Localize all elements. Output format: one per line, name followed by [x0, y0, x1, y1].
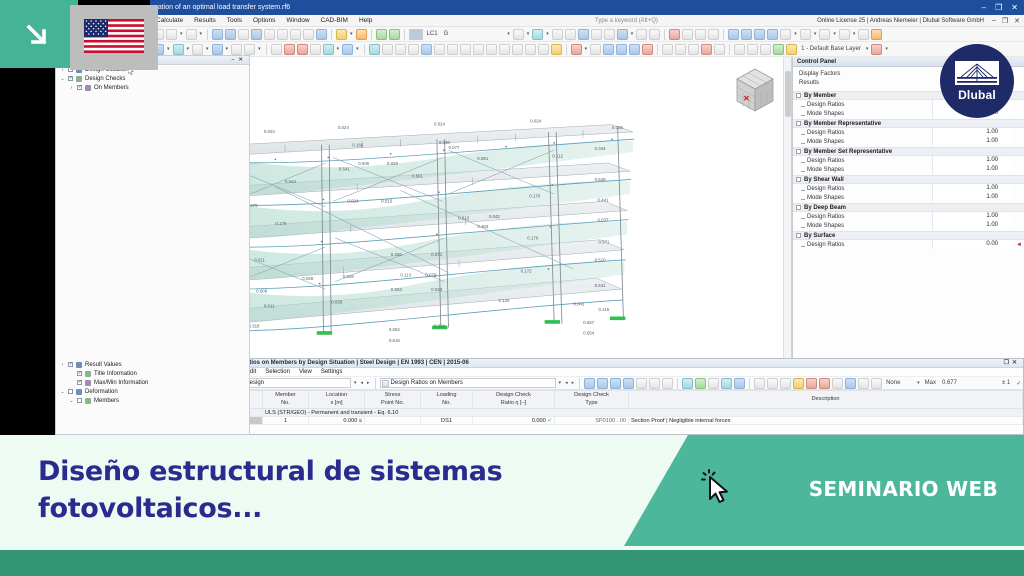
animation-icon[interactable] [800, 29, 811, 40]
tree-twisty-icon[interactable]: ⌄ [69, 398, 74, 404]
maxmin-info-icon [85, 380, 91, 386]
tree-node-label: Title Information [94, 371, 137, 377]
new-solid-icon[interactable] [212, 44, 223, 55]
layer-settings-icon[interactable] [871, 44, 882, 55]
deformation-icon[interactable] [819, 29, 830, 40]
svg-text:0.024: 0.024 [338, 125, 350, 130]
doc-minimize-icon[interactable]: – [992, 17, 996, 25]
loads-icon[interactable] [336, 29, 347, 40]
layer-edit-icon[interactable] [747, 44, 758, 55]
node-icon[interactable] [682, 29, 693, 40]
line-icon[interactable] [695, 29, 706, 40]
svg-text:0.541: 0.541 [595, 283, 607, 288]
pan-view-icon[interactable] [565, 29, 576, 40]
close-icon[interactable]: ✕ [1011, 0, 1018, 15]
cp-group-label: By Shear Wall [804, 177, 844, 183]
cp-factor-label: Mode Shapes [793, 111, 932, 117]
results-grid[interactable]: Design Situation Member No. Location x [… [216, 390, 1023, 425]
cp-group-checkbox[interactable] [796, 205, 801, 210]
screenshot-root: nation of an optimal load transfer syste… [0, 0, 1024, 576]
toolbar-separator [371, 29, 372, 40]
base-layer-dropdown-icon[interactable]: ▾ [865, 46, 870, 52]
svg-text:0.015: 0.015 [381, 198, 393, 203]
tree-node-checkbox[interactable] [68, 76, 73, 81]
layer-lock-icon[interactable] [786, 44, 797, 55]
table-row[interactable]: 1 0.000 ≤ DS1 0.000 ✓ SP0100 . 00 Sectio… [217, 417, 1023, 425]
line-support-icon[interactable] [284, 44, 295, 55]
cp-factor-value[interactable]: 1.00 [932, 137, 1014, 146]
tree-node-checkbox[interactable] [77, 380, 82, 385]
results-menu-selection[interactable]: Selection [265, 369, 290, 375]
clipboard-icon[interactable] [303, 29, 314, 40]
new-node-dropdown-icon[interactable]: ▾ [166, 46, 171, 52]
undo-icon[interactable] [166, 29, 177, 40]
minimize-icon[interactable]: – [982, 0, 986, 15]
svg-text:0.006: 0.006 [256, 289, 268, 294]
dim-arc-icon[interactable] [538, 44, 549, 55]
snap-dropdown-icon[interactable]: ▾ [630, 31, 635, 37]
cp-factor-value[interactable]: 1.00 [932, 156, 1014, 165]
rigid-link-icon[interactable] [342, 44, 353, 55]
tree-node-checkbox[interactable] [77, 85, 82, 90]
svg-text:0.561: 0.561 [412, 174, 424, 179]
svg-text:0.043: 0.043 [431, 287, 443, 292]
svg-text:0.549: 0.549 [595, 177, 607, 182]
window-controls[interactable]: – ❐ ✕ [982, 0, 1022, 15]
tree-node-label: Deformation [85, 389, 118, 395]
cp-factor-row: Design Ratios1.00 [793, 156, 1024, 165]
tree-node-label: Members [94, 398, 119, 404]
rotate-view-icon[interactable] [552, 29, 563, 40]
cp-factor-label: Design Ratios [793, 242, 932, 248]
navigator-header-controls[interactable]: –✕ [231, 56, 247, 65]
printer-icon[interactable] [277, 29, 288, 40]
toolbar-separator [364, 44, 365, 55]
seminar-label: SEMINARIO WEB [809, 477, 998, 501]
svg-text:0.056: 0.056 [612, 125, 624, 130]
cp-factor-marker: ◄ [1014, 242, 1024, 248]
nodal-support-icon[interactable] [271, 44, 282, 55]
results-table-window-controls[interactable]: ❐✕ [1004, 359, 1020, 368]
module-dropdown-icon[interactable]: ▾ [353, 380, 358, 386]
select-by-window-icon[interactable] [662, 44, 673, 55]
cp-group-checkbox[interactable] [796, 93, 801, 98]
cell-loading-no[interactable]: DS1 [421, 417, 473, 425]
tree-node[interactable]: ›On Members [56, 83, 249, 92]
panel-toggle-icon[interactable] [238, 29, 249, 40]
tree-twisty-icon[interactable]: ⌄ [60, 389, 65, 395]
menu-cad-bim[interactable]: CAD-BIM [321, 17, 348, 24]
toolbar-separator [566, 44, 567, 55]
menu-results[interactable]: Results [194, 17, 216, 24]
keyword-search-input[interactable]: Type a keyword (Alt+Q) [595, 18, 658, 24]
navigator-tree-bottom: ›Result ValuesTitle InformationMax/Min I… [56, 360, 249, 405]
menu-options[interactable]: Options [253, 17, 275, 24]
view-cube-icon[interactable]: ✕ [729, 65, 779, 117]
cp-group-header[interactable]: By Shear Wall [793, 175, 1024, 184]
layer-settings-dropdown-icon[interactable]: ▾ [884, 46, 889, 52]
module-next-icon[interactable]: ▸ [366, 380, 371, 386]
new-surface-dropdown-icon[interactable]: ▾ [205, 46, 210, 52]
cp-group-checkbox[interactable] [796, 121, 801, 126]
free-load-icon[interactable] [421, 44, 432, 55]
compare-icon[interactable] [832, 378, 843, 389]
tree-node-checkbox[interactable] [77, 398, 82, 403]
model-check-dropdown-icon[interactable]: ▾ [584, 46, 589, 52]
calculate-icon[interactable] [376, 29, 387, 40]
new-line-dropdown-icon[interactable]: ▾ [186, 46, 191, 52]
loadcase-color-swatch [409, 29, 423, 40]
member-release-icon[interactable] [323, 44, 334, 55]
svg-text:0.115: 0.115 [598, 307, 609, 312]
new-support-dropdown-icon[interactable]: ▾ [257, 46, 262, 52]
navigator-close-icon[interactable]: ✕ [238, 57, 247, 63]
new-solid-dropdown-icon[interactable]: ▾ [225, 46, 230, 52]
tree-twisty-icon[interactable]: ⌄ [60, 76, 65, 82]
results-close-icon[interactable]: ✕ [1012, 360, 1020, 366]
module-prev-icon[interactable]: ◂ [360, 380, 365, 386]
cp-group-header[interactable]: By Deep Beam [793, 203, 1024, 212]
cp-factor-row: Design Ratios1.00 [793, 184, 1024, 193]
menu-window[interactable]: Window [286, 17, 309, 24]
export-icon[interactable] [610, 378, 621, 389]
toolbar-separator [404, 29, 405, 40]
dim-radial-icon[interactable] [512, 44, 523, 55]
toolbar-separator [207, 29, 208, 40]
menu-tools[interactable]: Tools [227, 17, 242, 24]
apply-check-icon[interactable]: ✓ [1014, 380, 1023, 387]
print-report-icon[interactable] [662, 378, 673, 389]
dim-horizontal-icon[interactable] [473, 44, 484, 55]
col-location-x[interactable]: Location x [m] [309, 391, 365, 409]
svg-text:0.537: 0.537 [598, 218, 610, 223]
tree-twisty-icon[interactable]: › [69, 85, 74, 91]
zoom-to-selection-icon[interactable] [767, 378, 778, 389]
new-support-icon[interactable] [244, 44, 255, 55]
filter-active-icon[interactable] [845, 378, 856, 389]
line-load-icon[interactable] [382, 44, 393, 55]
toolbar-separator [677, 378, 678, 389]
cp-factor-value[interactable]: 1.00 [932, 193, 1014, 202]
dimension-icon[interactable] [636, 29, 647, 40]
table-select[interactable]: Design Ratios on Members [380, 378, 556, 388]
tolerance-value[interactable]: ± 1 [1000, 380, 1012, 386]
page-setup-icon[interactable] [649, 378, 660, 389]
filter-rows-icon[interactable] [721, 378, 732, 389]
results-table-window: Design Ratios on Members by Design Situa… [215, 358, 1024, 435]
undo-dropdown-icon[interactable]: ▾ [179, 31, 184, 37]
highlight-icon[interactable] [819, 378, 830, 389]
funnel-clear-icon[interactable] [871, 378, 882, 389]
member-hinge-icon[interactable] [297, 44, 308, 55]
svg-text:0.324: 0.324 [434, 324, 446, 329]
svg-text:0.024: 0.024 [434, 122, 446, 127]
toolbar-separator [266, 44, 267, 55]
col-stress-point-no[interactable]: Stress Point No. [365, 391, 421, 409]
redo-dropdown-icon[interactable]: ▾ [199, 31, 204, 37]
table-view-icon[interactable] [212, 29, 223, 40]
col-member-no[interactable]: Member No. [263, 391, 309, 409]
tree-node-checkbox[interactable] [68, 362, 73, 367]
cell-location-x[interactable]: 0.000 ≤ [309, 417, 365, 425]
measure-icon[interactable] [604, 29, 615, 40]
excel-export-icon[interactable] [695, 378, 706, 389]
cell-description[interactable]: Section Proof | Negligible internal forc… [629, 417, 1023, 425]
loadcase-dropdown-icon[interactable]: ▾ [506, 31, 511, 37]
grid-snap-icon[interactable] [649, 29, 660, 40]
col-design-check-ratio[interactable]: Design Check Ratio η [–] [473, 391, 555, 409]
rotate-icon[interactable] [616, 44, 627, 55]
cp-group-checkbox[interactable] [796, 149, 801, 154]
filter-mode-dropdown-icon[interactable]: ▾ [916, 380, 921, 386]
filter-dropdown-icon[interactable]: ▾ [545, 31, 550, 37]
tree-node[interactable]: Max/Min Information [56, 378, 249, 387]
model-check-icon[interactable] [571, 44, 582, 55]
results-group-row[interactable]: DS1 ULS (STR/GEO) - Permanent and transi… [217, 409, 1023, 417]
tree-node[interactable]: Title Information [56, 369, 249, 378]
col-loading-no[interactable]: Loading No. [421, 391, 473, 409]
rigid-link-dropdown-icon[interactable]: ▾ [355, 46, 360, 52]
member-load-icon[interactable] [395, 44, 406, 55]
csv-export-icon[interactable] [708, 378, 719, 389]
maximize-icon[interactable]: ❐ [995, 0, 1002, 15]
grid-view-icon[interactable] [225, 29, 236, 40]
results-restore-icon[interactable]: ❐ [1004, 360, 1012, 366]
result-diagram-icon[interactable] [728, 29, 739, 40]
cell-design-check-type[interactable]: SP0100 . 00 [555, 417, 629, 425]
filter-icon[interactable] [532, 29, 543, 40]
results-table-title-text: Design Ratios on Members by Design Situa… [220, 360, 469, 366]
control-panel-group: By Shear WallDesign Ratios1.00Mode Shape… [793, 175, 1024, 202]
cp-factor-value[interactable]: 1.00 [932, 184, 1014, 193]
deformation-dropdown-icon[interactable]: ▾ [832, 31, 837, 37]
load-case-icon[interactable] [356, 29, 367, 40]
info-icon[interactable] [839, 29, 850, 40]
member-release-dropdown-icon[interactable]: ▾ [336, 46, 341, 52]
chart-icon[interactable] [682, 378, 693, 389]
max-value[interactable]: 0.677 [940, 380, 998, 386]
sort-icon[interactable] [793, 378, 804, 389]
cp-factor-value[interactable]: 1.00 [932, 212, 1014, 221]
table-dropdown-icon[interactable]: ▾ [558, 380, 563, 386]
info-dropdown-icon[interactable]: ▾ [852, 31, 857, 37]
cp-group-checkbox[interactable] [796, 233, 801, 238]
svg-text:0.510: 0.510 [595, 258, 607, 263]
new-opening-icon[interactable] [231, 44, 242, 55]
deselect-icon[interactable] [714, 44, 725, 55]
svg-text:0.006: 0.006 [358, 161, 370, 166]
surface-load-icon[interactable] [408, 44, 419, 55]
toolbar-separator [723, 29, 724, 40]
control-panel-group: By Member RepresentativeDesign Ratios1.0… [793, 119, 1024, 146]
svg-text:0.028: 0.028 [302, 276, 314, 281]
svg-text:0.079: 0.079 [425, 272, 437, 277]
col-description[interactable]: Description [629, 391, 1023, 409]
pointer-icon[interactable] [316, 29, 327, 40]
new-line-icon[interactable] [173, 44, 184, 55]
loadcase-combo[interactable] [452, 29, 504, 40]
imperfection-icon[interactable] [434, 44, 445, 55]
section-icon[interactable] [591, 29, 602, 40]
svg-text:0.029: 0.029 [387, 161, 399, 166]
toolbar-separator [331, 29, 332, 40]
calculate-all-icon[interactable] [389, 29, 400, 40]
tree-node-checkbox[interactable] [77, 371, 82, 376]
results-grid-header-row: Design Situation Member No. Location x [… [217, 391, 1023, 409]
dim-angular-icon[interactable] [525, 44, 536, 55]
grid-settings-icon[interactable] [734, 378, 745, 389]
results-menu-settings[interactable]: Settings [321, 369, 343, 375]
animation-dropdown-icon[interactable]: ▾ [813, 31, 818, 37]
svg-text:0.113: 0.113 [400, 272, 411, 277]
cp-factor-label: Design Ratios [793, 102, 932, 108]
table-prev-icon[interactable]: ◂ [564, 380, 569, 386]
results-menu-view[interactable]: View [299, 369, 312, 375]
tree-node-label: Max/Min Information [94, 380, 148, 386]
cp-group-header[interactable]: By Member Representative [793, 119, 1024, 128]
color-scale-dropdown-icon[interactable]: ▾ [793, 31, 798, 37]
surface-support-icon[interactable] [310, 44, 321, 55]
import-icon[interactable] [623, 378, 634, 389]
max-label: Max [923, 380, 938, 386]
settlement-icon[interactable] [460, 44, 471, 55]
menu-help[interactable]: Help [359, 17, 372, 24]
col-design-check-type[interactable]: Design Check Type [555, 391, 629, 409]
layer-visible-icon[interactable] [773, 44, 784, 55]
snap-icon[interactable] [617, 29, 628, 40]
base-layer-select[interactable]: 1 - Default Base Layer [799, 46, 863, 52]
folder-icon[interactable] [871, 29, 882, 40]
tree-twisty-icon[interactable]: › [60, 362, 65, 368]
temperature-load-icon[interactable] [447, 44, 458, 55]
delete-icon[interactable] [701, 44, 712, 55]
visibility-dropdown-icon[interactable]: ▾ [526, 31, 531, 37]
zoom-view-icon[interactable] [578, 29, 589, 40]
result-values-icon[interactable] [741, 29, 752, 40]
visibility-icon[interactable] [513, 29, 524, 40]
layer-delete-icon[interactable] [760, 44, 771, 55]
print-preview-icon[interactable] [264, 29, 275, 40]
svg-text:0.024: 0.024 [264, 129, 276, 134]
dim-aligned-icon[interactable] [499, 44, 510, 55]
result-scale-icon[interactable] [754, 29, 765, 40]
svg-text:0.038: 0.038 [331, 300, 343, 305]
tree-node[interactable]: ⌄Design Checks [56, 74, 249, 83]
members-icon [85, 398, 91, 404]
cell-stress-point-no[interactable] [365, 417, 421, 425]
document-window-controls[interactable]: – ❐ ✕ [992, 17, 1020, 25]
tree-node-label: Design Checks [85, 76, 125, 82]
svg-text:0.175: 0.175 [275, 221, 287, 226]
nodal-load-icon[interactable] [369, 44, 380, 55]
cp-group-header[interactable]: By Surface [793, 231, 1024, 240]
cell-member-no[interactable]: 1 [263, 417, 309, 425]
svg-text:0.011: 0.011 [254, 258, 265, 263]
print-table-icon[interactable] [636, 378, 647, 389]
tree-node-label: On Members [94, 85, 129, 91]
layer-add-icon[interactable] [734, 44, 745, 55]
svg-text:0.042: 0.042 [489, 214, 501, 219]
redo-icon[interactable] [186, 29, 197, 40]
navigator-tree-spacer [56, 92, 249, 360]
cp-factor-row: Design Ratios1.00 [793, 212, 1024, 221]
menu-calculate[interactable]: Calculate [156, 17, 183, 24]
control-panel-group: By Member Set RepresentativeDesign Ratio… [793, 147, 1024, 174]
loadcase-name: G [442, 31, 451, 37]
funnel-icon[interactable] [858, 378, 869, 389]
cp-group-header[interactable]: By Member Set Representative [793, 147, 1024, 156]
dim-vertical-icon[interactable] [486, 44, 497, 55]
tree-node[interactable]: ⌄Members [56, 396, 249, 405]
svg-text:0.603: 0.603 [391, 287, 403, 292]
result-contour-icon[interactable] [767, 29, 778, 40]
mirror-icon[interactable] [603, 44, 614, 55]
select-in-model-icon[interactable] [754, 378, 765, 389]
toolbar-secondary: ▾ ▾ ▾ ▾ ▾ ▾ ▾ [150, 42, 1024, 57]
toolbar-separator [729, 44, 730, 55]
filter-mode-select[interactable]: None [884, 380, 914, 386]
doc-restore-icon[interactable]: ❐ [1002, 17, 1008, 25]
select-circle-icon[interactable] [675, 44, 686, 55]
table-next-icon[interactable]: ▸ [571, 380, 576, 386]
color-scale-icon[interactable] [780, 29, 791, 40]
text-annotation-icon[interactable] [551, 44, 562, 55]
find-icon[interactable] [584, 378, 595, 389]
svg-text:0.170: 0.170 [529, 194, 541, 199]
cp-factor-value[interactable]: 1.00 [932, 165, 1014, 174]
select-polygon-icon[interactable] [688, 44, 699, 55]
cp-group-label: By Member [804, 93, 836, 99]
design-checks-icon [76, 76, 82, 82]
render-icon[interactable] [251, 29, 262, 40]
tree-node-checkbox[interactable] [68, 389, 73, 394]
loadcase-id: LC1 [425, 31, 440, 37]
cp-factor-value[interactable]: 0.00 [932, 240, 1014, 249]
loads-dropdown-icon[interactable]: ▾ [349, 31, 354, 37]
copy-model-icon[interactable] [590, 44, 601, 55]
cell-design-check-ratio[interactable]: 0.000 ✓ [473, 417, 555, 425]
mesh-icon[interactable] [669, 29, 680, 40]
color-legend-icon[interactable] [806, 378, 817, 389]
svg-text:0.077: 0.077 [448, 145, 460, 150]
scale-icon[interactable] [629, 44, 640, 55]
cp-factor-value[interactable]: 1.00 [932, 221, 1014, 230]
vscroll-thumb[interactable] [785, 71, 791, 117]
report-icon[interactable] [858, 29, 869, 40]
cp-factor-value[interactable]: 1.00 [932, 128, 1014, 137]
banner-headline: Diseño estructural de sistemas fotovolta… [38, 454, 638, 527]
us-flag-icon [84, 19, 144, 53]
svg-text:0.166: 0.166 [352, 143, 364, 148]
new-surface-icon[interactable] [192, 44, 203, 55]
tree-node[interactable]: ⌄Deformation [56, 387, 249, 396]
magnifier-icon[interactable] [780, 378, 791, 389]
cp-group-checkbox[interactable] [796, 177, 801, 182]
tree-node[interactable]: ›Result Values [56, 360, 249, 369]
arrow-down-right-icon [24, 22, 54, 52]
results-grid-body: DS1 ULS (STR/GEO) - Permanent and transi… [217, 409, 1023, 425]
svg-text:0.019: 0.019 [343, 274, 355, 279]
group-row-label: ULS (STR/GEO) - Permanent and transient … [263, 409, 1023, 417]
surface-icon[interactable] [708, 29, 719, 40]
array-icon[interactable] [642, 44, 653, 55]
copy-icon[interactable] [290, 29, 301, 40]
control-panel-group: By Deep BeamDesign Ratios1.00Mode Shapes… [793, 203, 1024, 230]
doc-close-icon[interactable]: ✕ [1014, 17, 1020, 25]
viewcube-axis-label: ✕ [743, 94, 750, 103]
find-next-icon[interactable] [597, 378, 608, 389]
cp-factor-row: Mode Shapes1.00 [793, 137, 1024, 146]
